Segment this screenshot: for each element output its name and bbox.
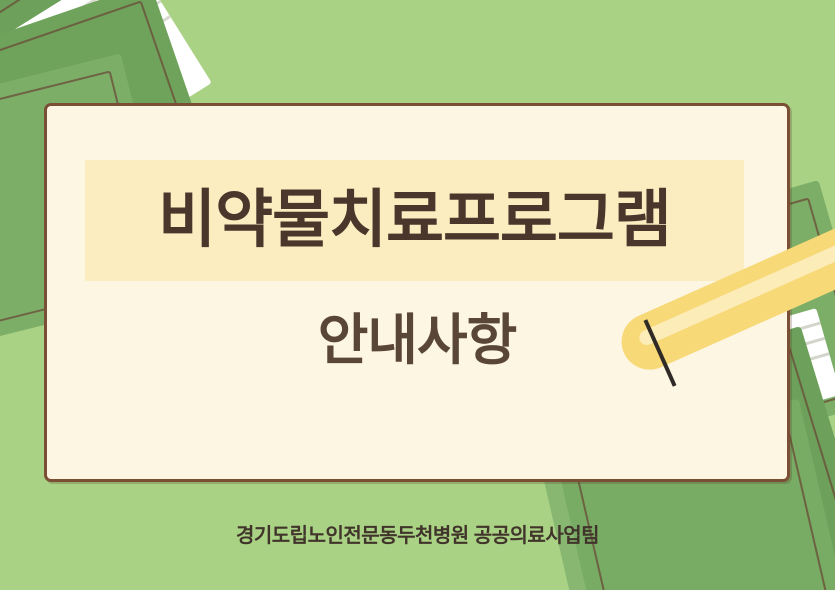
page-title: 비약물치료프로그램 (158, 189, 671, 252)
page-subtitle: 안내사항 (47, 313, 787, 368)
footer-organization: 경기도립노인전문동두천병원 공공의료사업팀 (0, 519, 835, 548)
page-line (0, 0, 161, 114)
poster-canvas: 비약물치료프로그램 안내사항 경기도립노인전문동두천병원 공공의료사업팀 (0, 0, 835, 590)
page-line (0, 0, 152, 98)
title-card: 비약물치료프로그램 안내사항 (44, 103, 790, 482)
title-highlight-band: 비약물치료프로그램 (85, 160, 744, 281)
page-line (0, 0, 142, 83)
